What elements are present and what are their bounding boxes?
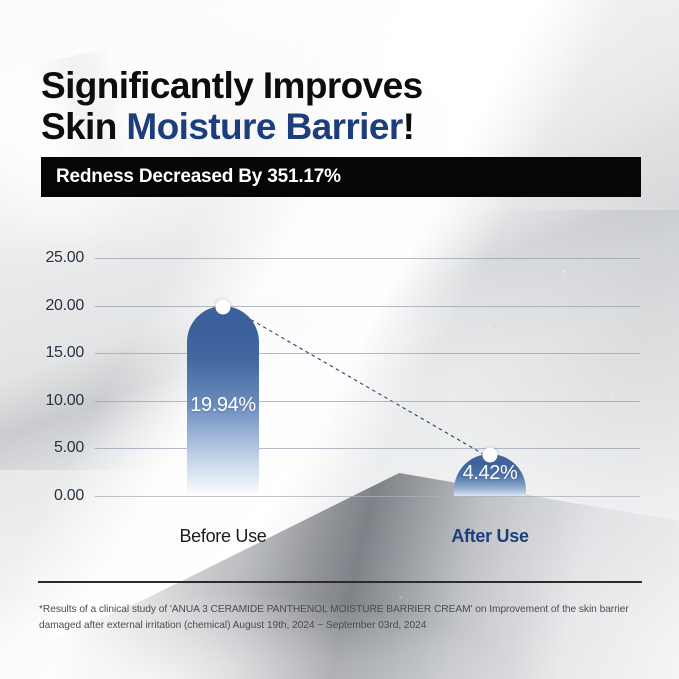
headline-line-2-accent: Moisture Barrier [126, 106, 402, 147]
chart-bar: 19.94% [187, 306, 259, 496]
bar-chart: 25.0020.0015.0010.005.000.0019.94%Before… [0, 230, 679, 550]
banner-label: Redness Decreased By 351.17% [56, 166, 341, 188]
chart-plot-area: 25.0020.0015.0010.005.000.0019.94%Before… [95, 258, 640, 496]
footnote-line-1: *Results of a clinical study of 'ANUA 3 … [39, 604, 548, 615]
footer-divider [38, 581, 642, 583]
footnote: *Results of a clinical study of 'ANUA 3 … [39, 602, 645, 633]
gridline [95, 258, 640, 259]
y-axis-tick-label: 20.00 [45, 297, 84, 315]
y-axis-tick-label: 15.00 [45, 344, 84, 362]
headline-line-2-tail: ! [403, 106, 415, 147]
product-infographic-page: Significantly ImprovesSkin Moisture Barr… [0, 0, 679, 679]
y-axis-tick-label: 10.00 [45, 392, 84, 410]
gridline [95, 306, 640, 307]
headline-line-2-plain: Skin [41, 106, 126, 147]
x-axis-category-label: After Use [451, 526, 528, 547]
bar-value-label: 19.94% [190, 394, 255, 417]
gridline [95, 401, 640, 402]
data-point-marker [483, 447, 498, 462]
highlight-banner: Redness Decreased By 351.17% [41, 157, 641, 197]
gridline [95, 448, 640, 449]
data-point-marker [216, 300, 231, 315]
x-axis-category-label: Before Use [179, 526, 266, 547]
headline-line-1: Significantly Improves [41, 65, 423, 106]
page-title: Significantly ImprovesSkin Moisture Barr… [41, 65, 423, 148]
gridline [95, 353, 640, 354]
y-axis-tick-label: 0.00 [54, 487, 84, 505]
gridline [95, 496, 640, 497]
bar-value-label: 4.42% [463, 462, 518, 485]
y-axis-tick-label: 25.00 [45, 249, 84, 267]
trend-connector-line [95, 258, 640, 496]
y-axis-tick-label: 5.00 [54, 439, 84, 457]
